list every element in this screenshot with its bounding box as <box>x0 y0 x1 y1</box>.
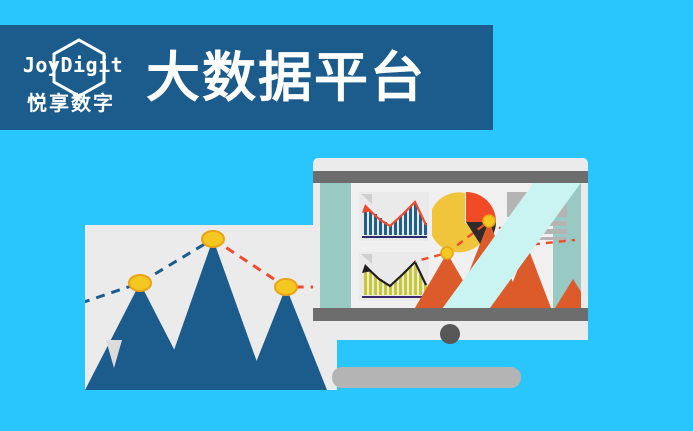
logo-wordmark: JoyDigit <box>17 53 129 77</box>
data-node <box>483 215 495 227</box>
monitor-bottom-bar <box>313 308 588 321</box>
data-node <box>202 231 224 247</box>
monitor-stand-neck <box>106 340 122 368</box>
page-title: 大数据平台 <box>146 51 426 105</box>
left-mountain-chart <box>85 225 337 390</box>
mountain-line-chart-panel <box>85 225 337 390</box>
data-node <box>441 247 453 259</box>
monitor-stand-base <box>332 367 521 388</box>
illustration-canvas: JoyDigit 悦享数字 大数据平台 <box>0 0 693 431</box>
data-node <box>129 275 151 291</box>
logo-subtitle: 悦享数字 <box>12 87 130 116</box>
monitor-top-bar <box>313 171 588 183</box>
data-node <box>275 279 297 295</box>
trend-dash-blue <box>85 239 213 303</box>
monitor-screen <box>320 183 581 308</box>
brand-logo: JoyDigit 悦享数字 <box>12 35 130 121</box>
desktop-monitor <box>313 158 588 340</box>
mountain-shape-far-right <box>555 279 581 308</box>
power-indicator-icon <box>440 324 460 344</box>
header-banner: JoyDigit 悦享数字 大数据平台 <box>0 25 493 130</box>
